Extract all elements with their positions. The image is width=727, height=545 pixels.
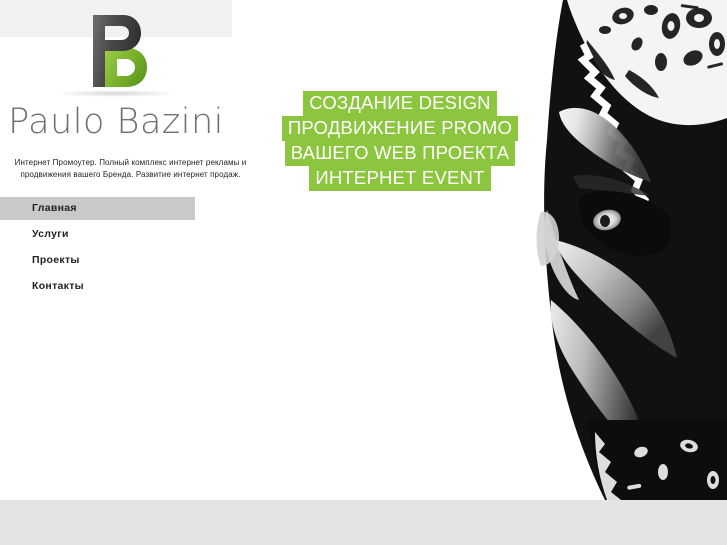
- hero-banner: СОЗДАНИЕ DESIGN ПРОДВИЖЕНИЕ PROMO ВАШЕГО…: [270, 90, 530, 190]
- nav-item-contacts[interactable]: Контакты: [0, 275, 195, 298]
- banner-line-4-text: ИНТЕРНЕТ EVENT: [309, 166, 490, 191]
- wordmark: Paulo Bazini: [0, 102, 232, 142]
- nav-item-projects[interactable]: Проекты: [0, 249, 195, 272]
- logo-green-bowl: [105, 48, 147, 87]
- hero-photo-image: [455, 0, 727, 500]
- nav-item-contacts-label: Контакты: [32, 280, 84, 292]
- page-root: B Paulo Bazini Интернет Промоутер. Полны…: [0, 0, 727, 545]
- banner-line-3-text: ВАШЕГО WEB ПРОЕКТА: [285, 141, 516, 166]
- pupil: [600, 215, 610, 227]
- banner-line-1-text: СОЗДАНИЕ DESIGN: [303, 91, 496, 116]
- nav-item-home[interactable]: Главная: [0, 197, 195, 220]
- logo-b-icon: [83, 14, 149, 88]
- hero-photo: [455, 0, 727, 500]
- banner-line-3: ВАШЕГО WEB ПРОЕКТА: [270, 140, 530, 165]
- banner-line-4: ИНТЕРНЕТ EVENT: [270, 165, 530, 190]
- tagline: Интернет Промоутер. Полный комплекс инте…: [8, 157, 253, 181]
- main-navigation: Главная Услуги Проекты Контакты: [0, 197, 232, 301]
- nav-item-home-label: Главная: [32, 202, 77, 214]
- nav-item-services-label: Услуги: [32, 228, 69, 240]
- collar-pattern: [587, 420, 727, 500]
- banner-line-1: СОЗДАНИЕ DESIGN: [270, 90, 530, 115]
- nav-item-projects-label: Проекты: [32, 254, 80, 266]
- brand-logo[interactable]: B Paulo Bazini: [0, 14, 232, 142]
- logo-shadow: [56, 90, 176, 97]
- nav-item-services[interactable]: Услуги: [0, 223, 195, 246]
- banner-line-2: ПРОДВИЖЕНИЕ PROMO: [270, 115, 530, 140]
- footer-band: [0, 500, 727, 545]
- banner-line-2-text: ПРОДВИЖЕНИЕ PROMO: [282, 116, 518, 141]
